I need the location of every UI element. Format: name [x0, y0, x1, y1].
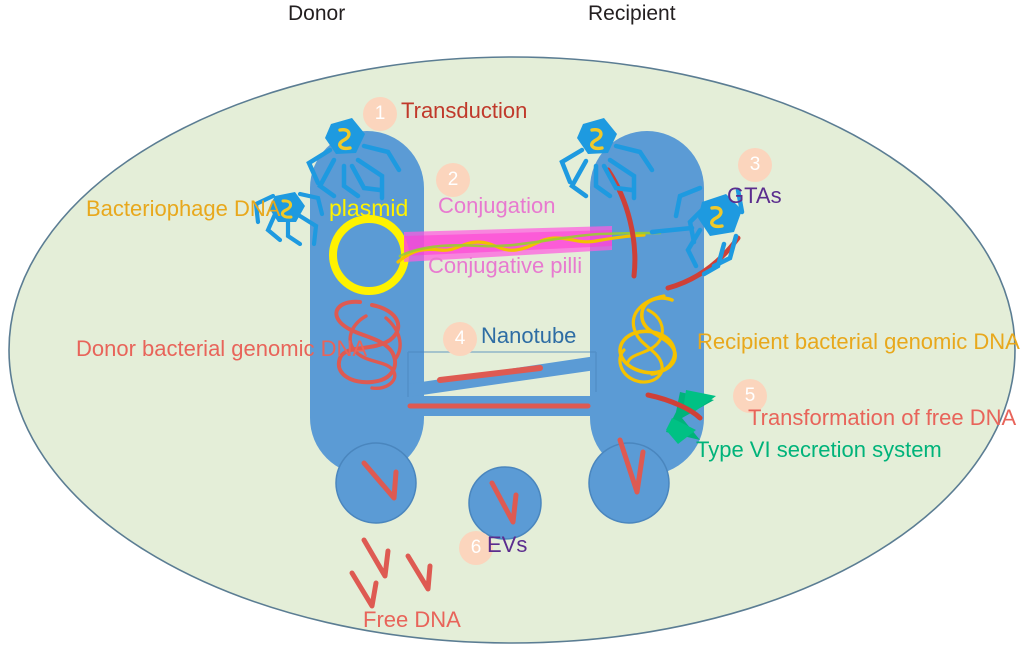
step-label-nanotube: Nanotube: [481, 325, 576, 347]
step-marker-1[interactable]: 1: [363, 97, 397, 131]
label-plasmid: plasmid: [329, 197, 408, 220]
label-donor-genomic-dna: Donor bacterial genomic DNA: [76, 338, 367, 360]
step-marker-3[interactable]: 3: [738, 148, 772, 182]
step-label-gtas: GTAs: [727, 185, 782, 207]
step-label-transformation: Transformation of free DNA: [748, 407, 1016, 429]
step-marker-2[interactable]: 2: [436, 163, 470, 197]
step-label-transduction: Transduction: [401, 100, 527, 122]
step-label-evs: EVs: [487, 534, 527, 556]
extracellular-vesicle-icon: [469, 467, 541, 539]
recipient-title: Recipient: [588, 3, 676, 24]
label-bacteriophage-dna: Bacteriophage DNA: [86, 198, 280, 220]
step-label-conjugation: Conjugation: [438, 195, 555, 217]
diagram-canvas: Donor Recipient 1 Transduction 2 Conjuga…: [0, 0, 1024, 657]
donor-title: Donor: [288, 3, 345, 24]
label-conjugative-pilli: Conjugative pilli: [428, 255, 582, 277]
step-marker-4[interactable]: 4: [443, 322, 477, 356]
label-free-dna: Free DNA: [363, 609, 461, 631]
label-t6ss: Type VI secretion system: [696, 439, 942, 461]
label-recipient-genomic-dna: Recipient bacterial genomic DNA: [697, 331, 1020, 353]
